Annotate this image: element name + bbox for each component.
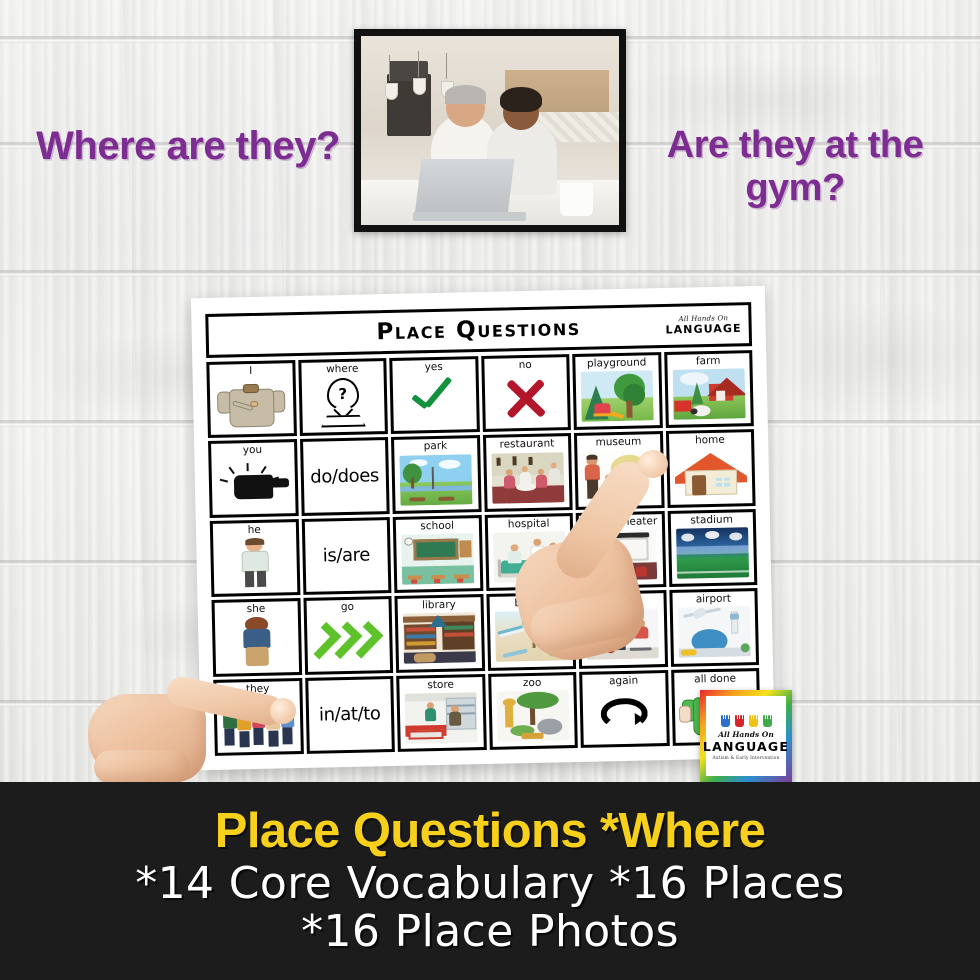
board-cell-label: zoo [523,677,542,688]
board-cell-go[interactable]: go [303,596,393,674]
photo-pendant-wire [389,55,390,81]
board-cell-playground[interactable]: playground [572,352,662,430]
board-cell-is-are[interactable]: is/are [301,517,391,595]
board-cell-art [214,535,296,591]
headline-are-they-at-the-gym: Are they at the gym? [632,124,958,211]
board-cell-art [670,446,752,502]
board-cell-school[interactable]: school [393,515,483,593]
green-check-icon [394,372,476,428]
board-cell-label: no [519,360,532,371]
board-cell-art [672,525,754,581]
board-cell-art [397,531,479,587]
board-cell-art [578,448,660,504]
logo-hand-yellow [747,712,760,727]
board-title-row: Place Questions All Hands On LANGUAGE [205,302,752,358]
board-cell-library[interactable]: library [394,594,484,672]
board-cell-stadium[interactable]: stadium [667,509,757,587]
board-cell-art [218,694,300,750]
circular-arrow-icon [584,686,666,742]
boy-figure-icon [214,535,296,591]
board-cell-art [668,366,750,422]
board-cell-label: all done [694,673,736,685]
board-cell-label: she [247,604,266,615]
shirt-icon [211,376,293,432]
photo-pendant-lamp [385,83,398,100]
board-cell-label: I [249,366,252,377]
board-cell-art [211,376,293,432]
green-chevrons-icon [307,612,389,668]
board-cell-label: yes [425,362,443,373]
board-cell-gym[interactable]: gym [577,590,667,668]
board-cell-label: where [326,364,358,376]
headline-right-line2: gym? [632,167,958,210]
communication-board[interactable]: Place Questions All Hands On LANGUAGE I … [191,286,775,770]
board-cell-you[interactable]: you [208,439,298,517]
photo-man-hair [445,85,486,104]
board-cell-park[interactable]: park [391,435,481,513]
board-cell-beach[interactable]: beach [486,592,576,670]
board-cell-word: is/are [323,544,371,566]
board-cell-label: park [424,441,448,453]
board-cell-label: he [248,525,261,536]
banner-subline-1: *14 Core Vocabulary *16 Places [135,860,845,908]
restaurant-scene-icon [487,450,569,506]
plank-seam [0,270,980,277]
logo-hand-green [761,712,774,727]
wood-grain [760,300,980,420]
couple-photo-frame [354,29,626,232]
board-cell-art: ? [302,374,384,430]
board-cell-art [580,527,662,583]
board-cell-art [395,452,477,508]
bottom-banner: Place Questions *Where *14 Core Vocabula… [0,782,980,980]
board-cell-yes[interactable]: yes [389,356,479,434]
board-cell-label: gym [610,596,633,608]
group-of-people-icon [218,694,300,750]
board-cell-do-does[interactable]: do/does [300,437,390,515]
stadium-scene-icon [672,525,754,581]
board-cell-where[interactable]: where? [298,358,388,436]
board-cell-word: do/does [310,465,379,487]
board-cell-restaurant[interactable]: restaurant [482,433,572,511]
board-grid: I where?yesnoplayground farm [206,350,760,756]
banner-title: Place Questions *Where [215,807,766,856]
map-pin-question-icon: ? [302,374,384,430]
photo-laptop-screen [414,159,514,216]
hospital-scene-icon [489,529,571,585]
gym-scene-icon [582,606,664,662]
board-cell-word: in/at/to [319,703,381,725]
board-cell-label: airport [696,594,731,606]
zoo-scene-icon [492,688,574,744]
store-scene-icon [401,690,483,746]
photo-woman-hair [500,87,541,112]
board-cell-art [673,604,755,660]
board-cell-art [582,606,664,662]
board-cell-art [485,370,567,426]
board-cell-art [577,368,659,424]
red-x-icon [485,370,567,426]
board-cell-store[interactable]: store [396,674,486,752]
board-cell-art [212,456,294,512]
board-cell-i[interactable]: I [206,360,296,438]
board-cell-zoo[interactable]: zoo [488,672,578,750]
board-cell-art [307,612,389,668]
couple-photo-image [361,36,619,225]
board-cell-they[interactable]: they [213,678,303,756]
airport-scene-icon [673,604,755,660]
board-cell-label: they [246,683,270,695]
library-scene-icon [399,610,481,666]
house-scene-icon [670,446,752,502]
logo-hand-red [733,712,746,727]
board-cell-no[interactable]: no [481,354,571,432]
board-cell-he[interactable]: he [210,519,300,597]
classroom-scene-icon [397,531,479,587]
board-logo: All Hands On LANGUAGE [665,315,742,336]
photo-laptop-base [413,212,527,221]
board-title: Place Questions [376,315,581,345]
board-cell-in-at-to[interactable]: in/at/to [305,676,395,754]
board-cell-she[interactable]: she [212,598,302,676]
board-cell-airport[interactable]: airport [669,588,759,666]
photo-pendant-lamp [413,78,426,95]
board-cell-label: hospital [508,518,550,530]
logo-hand-blue [719,712,732,727]
board-cell-label: go [341,602,354,613]
board-cell-again[interactable]: again [579,670,669,748]
badge-line3: Autism & Early Intervention [712,756,779,761]
beach-scene-icon [490,608,572,664]
photo-pendant-wire [418,51,419,77]
cinema-scene-icon [580,527,662,583]
pointing-fist-icon [212,456,294,512]
board-cell-label: beach [514,598,546,610]
photo-coffee-mug [560,183,594,215]
park-scene-icon [395,452,477,508]
headline-where-are-they: Where are they? [28,124,348,170]
board-cell-art [399,610,481,666]
board-cell-label: farm [696,356,721,368]
board-cell-art [490,608,572,664]
headline-right-line1: Are they at the [632,124,958,167]
board-cell-art [584,686,666,742]
board-cell-movie-theater[interactable]: movie theater [576,511,666,589]
board-cell-label: school [420,520,454,532]
board-cell-art [489,529,571,585]
board-cell-hospital[interactable]: hospital [484,513,574,591]
board-logo-line2: LANGUAGE [665,323,741,336]
banner-subline-2: *16 Place Photos [301,908,679,956]
all-hands-on-language-badge: All Hands On LANGUAGE Autism & Early Int… [700,690,792,782]
board-cell-home[interactable]: home [665,429,755,507]
photo-pendant-wire [446,53,447,79]
farm-scene-icon [668,366,750,422]
board-cell-art [401,690,483,746]
board-cell-art [492,688,574,744]
board-cell-art [216,614,298,670]
board-cell-label: you [243,445,263,456]
badge-line1: All Hands On [718,730,774,739]
board-cell-museum[interactable]: museum [574,431,664,509]
board-cell-farm[interactable]: farm [664,350,754,428]
woman-figure-icon [216,614,298,670]
logo-hands-icon [719,712,774,727]
board-cell-label: home [695,435,725,447]
board-cell-label: store [427,679,454,691]
museum-scene-icon [578,448,660,504]
board-cell-label: library [422,600,456,612]
board-cell-art [394,372,476,428]
badge-line2: LANGUAGE [703,739,789,754]
board-cell-label: again [609,675,638,687]
playground-scene-icon [577,368,659,424]
board-cell-art [487,450,569,506]
